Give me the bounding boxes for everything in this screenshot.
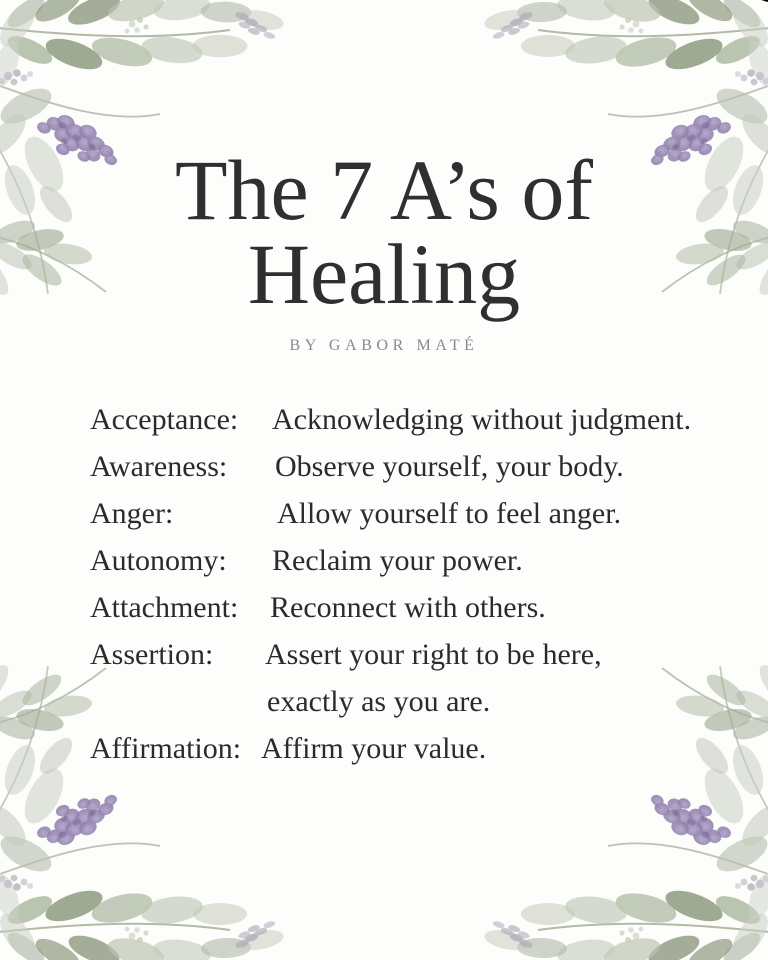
list-item-definition: exactly as you are. [267,678,490,725]
list-item: Assertion:Assert your right to be here, [90,631,750,678]
list-item-term: Anger: [90,490,173,537]
title-block: The 7 A’s of Healing BY GABOR MATÉ [0,148,768,355]
list-item-definition: Reconnect with others. [270,584,546,631]
list-item-definition: Acknowledging without judgment. [272,396,691,443]
list-item-definition: Allow yourself to feel anger. [277,490,621,537]
list-item-definition: Assert your right to be here, [265,631,602,678]
list-item-term: Acceptance: [90,396,238,443]
list-item: Autonomy:Reclaim your power. [90,537,750,584]
list-item: Anger:Allow yourself to feel anger. [90,490,750,537]
page-title-line-2: Healing [0,232,768,316]
author-byline: BY GABOR MATÉ [0,337,768,355]
page-title-line-1: The 7 A’s of [0,148,768,232]
poster-canvas: The 7 A’s of Healing BY GABOR MATÉ Accep… [0,0,768,960]
list-item-term: Autonomy: [90,537,227,584]
list-item-definition: Reclaim your power. [272,537,523,584]
list-item-term: Assertion: [90,631,213,678]
healing-list: Acceptance:Acknowledging without judgmen… [90,396,750,772]
list-item-definition: Observe yourself, your body. [275,443,624,490]
list-item-definition: Affirm your value. [261,725,486,772]
list-item: Affirmation:Affirm your value. [90,725,750,772]
list-item: Awareness:Observe yourself, your body. [90,443,750,490]
list-item: exactly as you are. [90,678,750,725]
list-item-term: Awareness: [90,443,227,490]
list-item: Acceptance:Acknowledging without judgmen… [90,396,750,443]
list-item-term: Attachment: [90,584,238,631]
list-item-term: Affirmation: [90,725,241,772]
list-item: Attachment:Reconnect with others. [90,584,750,631]
